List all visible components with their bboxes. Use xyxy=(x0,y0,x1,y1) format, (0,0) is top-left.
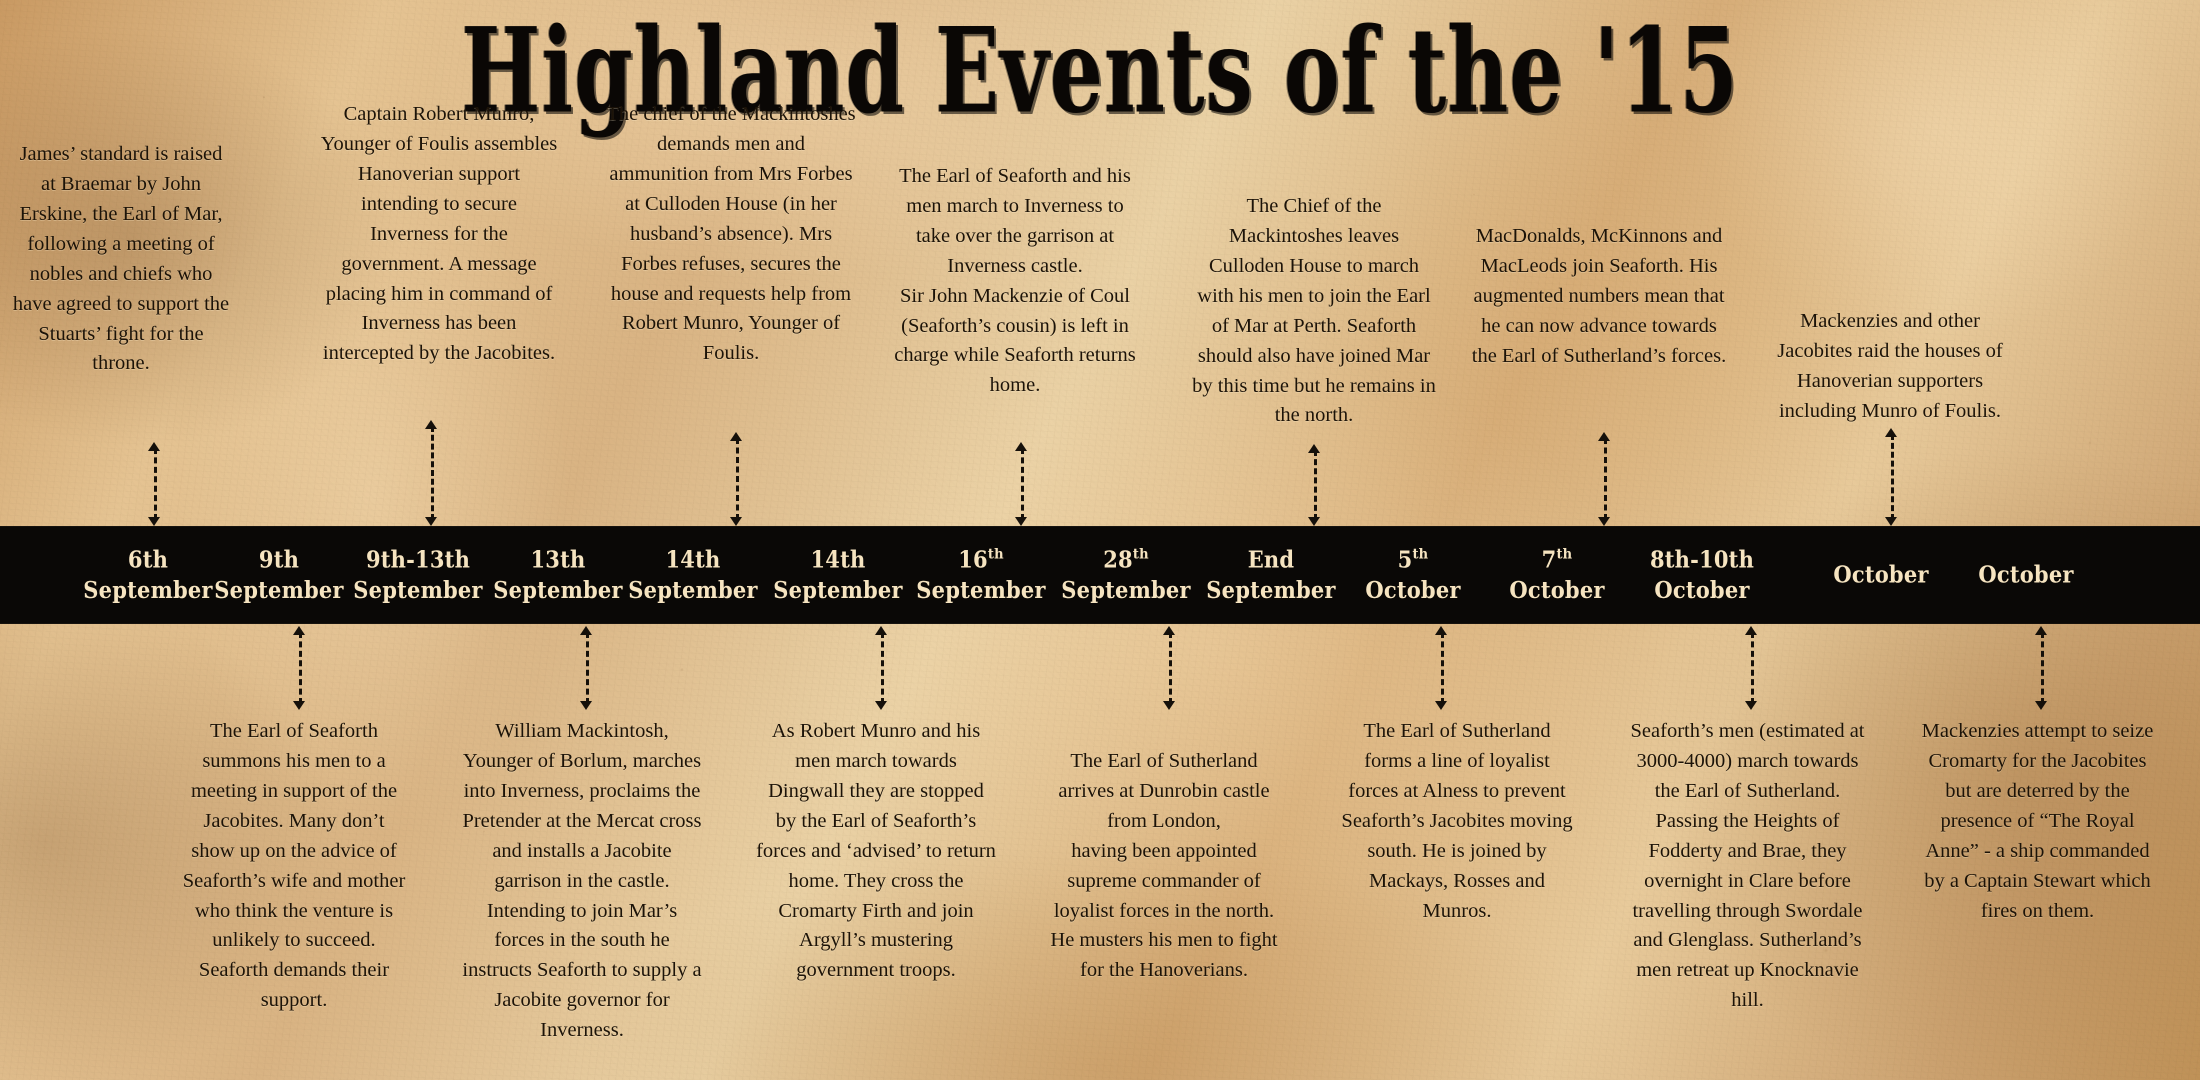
date-day-with-sup: 5th xyxy=(1398,545,1429,575)
connector-top-4 xyxy=(1015,442,1028,526)
event-block-bottom-6: Seaforth’s men (estimated at 3000-4000) … xyxy=(1625,717,1870,1016)
connector-stem xyxy=(1891,434,1894,520)
date-cell-13[interactable]: October xyxy=(1820,522,1942,628)
connector-bottom-2 xyxy=(580,626,593,710)
connector-stem xyxy=(736,438,739,520)
event-text: The Earl of Sutherland forms a line of l… xyxy=(1341,720,1572,922)
event-block-top-2: Captain Robert Munro, Younger of Foulis … xyxy=(320,100,558,369)
event-text: Mackenzies and other Jacobites raid the … xyxy=(1777,310,2002,422)
connector-bottom-7 xyxy=(2035,626,2048,710)
date-cell-1[interactable]: 6th September xyxy=(82,522,214,628)
connector-bottom-4 xyxy=(1163,626,1176,710)
date-day: 16 xyxy=(958,546,988,574)
date-cell-3[interactable]: 9th-13th September xyxy=(344,522,492,628)
date-day: 5 xyxy=(1398,546,1413,574)
connector-stem xyxy=(1441,632,1444,704)
event-block-bottom-7: Mackenzies attempt to seize Cromarty for… xyxy=(1915,717,2160,926)
date-month: September xyxy=(83,575,212,605)
connector-stem xyxy=(1751,632,1754,704)
event-text: Seaforth’s men (estimated at 3000-4000) … xyxy=(1631,720,1865,1011)
date-day-ordinal: th xyxy=(1133,547,1149,564)
date-month: September xyxy=(1206,575,1335,605)
date-day: 9th xyxy=(259,545,299,575)
connector-stem xyxy=(1314,450,1317,520)
date-month: October xyxy=(1654,575,1749,605)
date-cell-14[interactable]: October xyxy=(1965,522,2087,628)
event-text: The Chief of the Mackintoshes leaves Cul… xyxy=(1192,195,1436,426)
event-text: William Mackintosh, Younger of Borlum, m… xyxy=(462,720,701,1041)
connector-bottom-1 xyxy=(293,626,306,710)
date-day: 28 xyxy=(1103,546,1133,574)
connector-top-5 xyxy=(1308,444,1321,526)
date-month: September xyxy=(773,575,902,605)
date-day: 7 xyxy=(1542,546,1557,574)
date-day: End xyxy=(1248,545,1295,575)
event-text: The Earl of Seaforth and his men march t… xyxy=(894,165,1136,396)
connector-top-6 xyxy=(1598,432,1611,526)
connector-bottom-3 xyxy=(875,626,888,710)
date-month: September xyxy=(916,575,1045,605)
connector-stem xyxy=(299,632,302,704)
event-text: Captain Robert Munro, Younger of Foulis … xyxy=(321,103,558,364)
event-block-bottom-4: The Earl of Sutherland arrives at Dunrob… xyxy=(1045,717,1283,986)
event-text: MacDonalds, McKinnons and MacLeods join … xyxy=(1472,225,1726,367)
date-day-ordinal: th xyxy=(1412,547,1428,564)
event-text: James’ standard is raised at Braemar by … xyxy=(13,143,229,374)
date-day: 8th-10th xyxy=(1650,545,1754,575)
event-block-top-7: Mackenzies and other Jacobites raid the … xyxy=(1760,307,2020,427)
date-day: 9th-13th xyxy=(366,545,470,575)
date-month: October xyxy=(1978,560,2073,590)
date-day-with-sup: 7th xyxy=(1542,545,1573,575)
connector-bottom-6 xyxy=(1745,626,1758,710)
arrowhead-down-icon xyxy=(580,701,592,710)
event-block-bottom-1: The Earl of Seaforth summons his men to … xyxy=(180,717,408,1016)
event-text: Mackenzies attempt to seize Cromarty for… xyxy=(1922,720,2154,922)
date-day-ordinal: th xyxy=(1556,547,1572,564)
date-month: September xyxy=(493,575,622,605)
date-cell-6[interactable]: 14th September xyxy=(772,522,904,628)
date-cell-5[interactable]: 14th September xyxy=(627,522,759,628)
arrowhead-down-icon xyxy=(2035,701,2047,710)
event-block-top-4: The Earl of Seaforth and his men march t… xyxy=(890,132,1140,401)
date-day: 14th xyxy=(811,545,866,575)
date-day: 14th xyxy=(666,545,721,575)
event-block-bottom-3: As Robert Munro and his men march toward… xyxy=(756,717,996,986)
event-block-top-6: MacDonalds, McKinnons and MacLeods join … xyxy=(1470,222,1728,372)
date-cell-7[interactable]: 16th September xyxy=(915,522,1047,628)
timeline-date-bar: 6th September 9th September 9th-13th Sep… xyxy=(0,527,2200,623)
connector-stem xyxy=(881,632,884,704)
connector-stem xyxy=(2041,632,2044,704)
date-day-with-sup: 16th xyxy=(958,545,1004,575)
date-day: 13th xyxy=(531,545,586,575)
event-block-bottom-5: The Earl of Sutherland forms a line of l… xyxy=(1338,717,1576,926)
date-month: September xyxy=(353,575,482,605)
date-month: October xyxy=(1365,575,1460,605)
date-month: September xyxy=(628,575,757,605)
connector-top-7 xyxy=(1885,428,1898,526)
event-text: The Earl of Sutherland arrives at Dunrob… xyxy=(1050,750,1277,981)
connector-bottom-5 xyxy=(1435,626,1448,710)
event-text: As Robert Munro and his men march toward… xyxy=(756,720,996,981)
date-cell-10[interactable]: 5th October xyxy=(1352,522,1474,628)
date-cell-4[interactable]: 13th September xyxy=(492,522,624,628)
event-text: The chief of the Mackintoshes demands me… xyxy=(606,103,855,364)
date-month: October xyxy=(1833,560,1928,590)
event-block-top-1: James’ standard is raised at Braemar by … xyxy=(10,140,232,379)
connector-stem xyxy=(1169,632,1172,704)
connector-stem xyxy=(1021,448,1024,520)
date-month: September xyxy=(214,575,343,605)
connector-top-1 xyxy=(148,442,161,526)
event-text: The Earl of Seaforth summons his men to … xyxy=(183,720,406,1011)
connector-stem xyxy=(586,632,589,704)
date-month: October xyxy=(1509,575,1604,605)
connector-top-3 xyxy=(730,432,743,526)
date-cell-2[interactable]: 9th September xyxy=(216,522,342,628)
date-cell-8[interactable]: 28th September xyxy=(1060,522,1192,628)
timeline-poster: Highland Events of the '15 James’ standa… xyxy=(0,0,2200,1080)
event-block-top-5: The Chief of the Mackintoshes leaves Cul… xyxy=(1190,192,1438,431)
event-block-top-3: The chief of the Mackintoshes demands me… xyxy=(605,100,857,369)
date-day: 6th xyxy=(128,545,168,575)
date-cell-11[interactable]: 7th October xyxy=(1496,522,1618,628)
date-day-ordinal: th xyxy=(988,547,1004,564)
arrowhead-down-icon xyxy=(1163,701,1175,710)
arrowhead-down-icon xyxy=(1745,701,1757,710)
date-day-with-sup: 28th xyxy=(1103,545,1149,575)
connector-stem xyxy=(154,448,157,520)
connector-top-2 xyxy=(425,420,438,526)
arrowhead-down-icon xyxy=(1435,701,1447,710)
date-cell-12[interactable]: 8th-10th October xyxy=(1628,522,1776,628)
date-month: September xyxy=(1061,575,1190,605)
date-cell-9[interactable]: End September xyxy=(1205,522,1337,628)
arrowhead-down-icon xyxy=(875,701,887,710)
arrowhead-down-icon xyxy=(293,701,305,710)
connector-stem xyxy=(1604,438,1607,520)
connector-stem xyxy=(431,426,434,520)
event-block-bottom-2: William Mackintosh, Younger of Borlum, m… xyxy=(462,717,702,1046)
